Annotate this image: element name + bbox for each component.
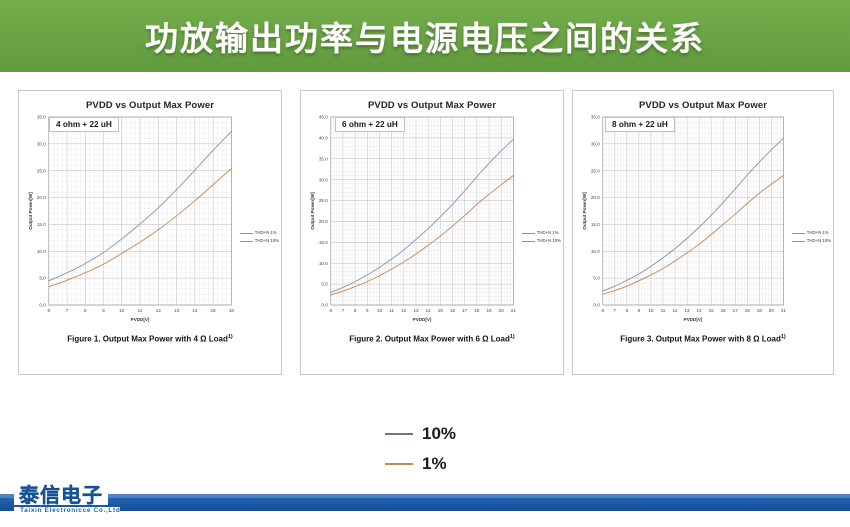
svg-text:PVDD[V]: PVDD[V] — [684, 317, 703, 322]
plot-area-2: 6 ohm + 22 uH THD+N 1% THD+N 10% 0.05.01… — [301, 111, 563, 333]
svg-text:9: 9 — [638, 308, 641, 313]
svg-text:14: 14 — [697, 308, 703, 313]
svg-text:12: 12 — [156, 308, 162, 313]
footer: 泰信电子 Taixin Electronicce Co.,Ltd — [0, 482, 850, 527]
svg-text:6: 6 — [48, 308, 51, 313]
svg-text:Output Power[W]: Output Power[W] — [310, 192, 315, 230]
svg-text:10.0: 10.0 — [319, 261, 328, 266]
svg-text:18: 18 — [474, 308, 480, 313]
legend-swatch-icon — [240, 241, 253, 242]
svg-text:14: 14 — [192, 308, 198, 313]
svg-text:12: 12 — [672, 308, 678, 313]
svg-text:Output Power[W]: Output Power[W] — [582, 192, 587, 230]
chart-card-2: PVDD vs Output Max Power 6 ohm + 22 uH T… — [300, 90, 564, 375]
svg-text:20: 20 — [769, 308, 775, 313]
caption-text: Figure 3. Output Max Power with 8 Ω Load — [620, 335, 781, 344]
charts-strip: PVDD vs Output Max Power 4 ohm + 22 uH T… — [0, 90, 850, 415]
chart-title-2: PVDD vs Output Max Power — [301, 91, 563, 111]
svg-text:40.0: 40.0 — [319, 135, 328, 140]
svg-text:15: 15 — [211, 308, 217, 313]
svg-text:10: 10 — [377, 308, 383, 313]
svg-text:12: 12 — [401, 308, 407, 313]
svg-text:7: 7 — [342, 308, 345, 313]
bottom-legend-label: 1% — [422, 454, 447, 474]
svg-text:35.0: 35.0 — [591, 115, 600, 120]
svg-text:8: 8 — [354, 308, 357, 313]
legend-label: THD+N 10% — [807, 237, 831, 245]
svg-text:30.0: 30.0 — [319, 177, 328, 182]
svg-text:18: 18 — [745, 308, 751, 313]
legend-swatch-icon — [522, 241, 535, 242]
chart-legend-3: THD+N 1% THD+N 10% — [792, 229, 831, 245]
logo-chinese-name: 泰信电子 — [14, 484, 108, 505]
legend-swatch-icon — [792, 241, 805, 242]
legend-swatch-icon — [792, 233, 805, 234]
svg-text:20: 20 — [499, 308, 505, 313]
company-logo: 泰信电子 Taixin Electronicce Co.,Ltd — [14, 484, 120, 514]
svg-text:6: 6 — [330, 308, 333, 313]
legend-item-thd10: THD+N 10% — [792, 237, 831, 245]
svg-text:PVDD[V]: PVDD[V] — [413, 317, 432, 322]
bottom-legend: 10% 1% — [0, 418, 850, 478]
svg-text:16: 16 — [721, 308, 727, 313]
svg-text:15.0: 15.0 — [319, 240, 328, 245]
svg-text:PVDD[V]: PVDD[V] — [131, 317, 150, 322]
svg-text:0.0: 0.0 — [39, 303, 46, 308]
footer-bar — [0, 494, 850, 511]
svg-text:15.0: 15.0 — [37, 222, 46, 227]
legend-item-thd1: THD+N 1% — [792, 229, 831, 237]
legend-item-thd1: THD+N 1% — [522, 229, 561, 237]
legend-swatch-icon — [240, 233, 253, 234]
svg-text:6: 6 — [602, 308, 605, 313]
svg-text:7: 7 — [614, 308, 617, 313]
chart-title-3: PVDD vs Output Max Power — [573, 91, 833, 111]
page-title: 功放输出功率与电源电压之间的关系 — [0, 0, 850, 72]
svg-text:5.0: 5.0 — [39, 276, 46, 281]
svg-text:17: 17 — [733, 308, 739, 313]
svg-text:0.0: 0.0 — [321, 303, 328, 308]
svg-text:35.0: 35.0 — [319, 156, 328, 161]
svg-text:16: 16 — [450, 308, 456, 313]
legend-label: THD+N 1% — [537, 229, 559, 237]
condition-box-2: 6 ohm + 22 uH — [335, 117, 405, 132]
svg-text:13: 13 — [413, 308, 419, 313]
svg-text:15: 15 — [709, 308, 715, 313]
bottom-legend-item-1: 1% — [385, 454, 447, 474]
chart-legend-2: THD+N 1% THD+N 10% — [522, 229, 561, 245]
caption-footnote: 1) — [228, 334, 233, 340]
svg-text:8: 8 — [626, 308, 629, 313]
header-band: 功放输出功率与电源电压之间的关系 — [0, 0, 850, 72]
svg-text:9: 9 — [366, 308, 369, 313]
plot-area-1: 4 ohm + 22 uH THD+N 1% THD+N 10% 0.05.01… — [19, 111, 281, 333]
line-swatch-icon — [385, 433, 413, 436]
plot-area-3: 8 ohm + 22 uH THD+N 1% THD+N 10% 0.05.01… — [573, 111, 833, 333]
svg-text:30.0: 30.0 — [37, 141, 46, 146]
legend-swatch-icon — [522, 233, 535, 234]
svg-text:5.0: 5.0 — [593, 276, 600, 281]
chart-card-1: PVDD vs Output Max Power 4 ohm + 22 uH T… — [18, 90, 282, 375]
legend-label: THD+N 1% — [255, 229, 277, 237]
svg-text:21: 21 — [511, 308, 517, 313]
legend-item-thd10: THD+N 10% — [522, 237, 561, 245]
svg-text:25.0: 25.0 — [319, 198, 328, 203]
legend-label: THD+N 10% — [255, 237, 279, 245]
svg-text:11: 11 — [661, 308, 666, 313]
figure-caption-3: Figure 3. Output Max Power with 8 Ω Load… — [573, 334, 833, 344]
svg-text:20.0: 20.0 — [319, 219, 328, 224]
svg-text:5.0: 5.0 — [321, 282, 328, 287]
figure-caption-2: Figure 2. Output Max Power with 6 Ω Load… — [301, 334, 563, 344]
caption-footnote: 1) — [510, 334, 515, 340]
svg-text:11: 11 — [138, 308, 143, 313]
svg-text:10.0: 10.0 — [37, 249, 46, 254]
figure-caption-1: Figure 1. Output Max Power with 4 Ω Load… — [19, 334, 281, 344]
caption-text: Figure 1. Output Max Power with 4 Ω Load — [67, 335, 228, 344]
svg-text:8: 8 — [84, 308, 87, 313]
svg-text:10: 10 — [648, 308, 654, 313]
chart-legend-1: THD+N 1% THD+N 10% — [240, 229, 279, 245]
bottom-legend-item-10: 10% — [385, 424, 456, 444]
svg-text:25.0: 25.0 — [37, 168, 46, 173]
legend-label: THD+N 1% — [807, 229, 829, 237]
svg-text:45.0: 45.0 — [319, 115, 328, 120]
plot-svg-3: 0.05.010.015.020.025.030.035.06789101112… — [573, 111, 833, 333]
svg-text:Output Power[W]: Output Power[W] — [28, 192, 33, 230]
svg-text:7: 7 — [66, 308, 69, 313]
plot-svg-2: 0.05.010.015.020.025.030.035.040.045.067… — [301, 111, 563, 333]
svg-text:13: 13 — [174, 308, 180, 313]
svg-text:11: 11 — [389, 308, 394, 313]
legend-label: THD+N 10% — [537, 237, 561, 245]
line-swatch-icon — [385, 463, 413, 466]
svg-text:20.0: 20.0 — [37, 195, 46, 200]
legend-item-thd1: THD+N 1% — [240, 229, 279, 237]
svg-text:25.0: 25.0 — [591, 168, 600, 173]
svg-text:17: 17 — [462, 308, 468, 313]
svg-text:9: 9 — [102, 308, 105, 313]
svg-text:19: 19 — [757, 308, 763, 313]
bottom-legend-label: 10% — [422, 424, 456, 444]
svg-text:15.0: 15.0 — [591, 222, 600, 227]
svg-text:10: 10 — [119, 308, 125, 313]
svg-text:13: 13 — [685, 308, 691, 313]
svg-text:10.0: 10.0 — [591, 249, 600, 254]
caption-text: Figure 2. Output Max Power with 6 Ω Load — [349, 335, 510, 344]
svg-text:0.0: 0.0 — [593, 303, 600, 308]
svg-text:20.0: 20.0 — [591, 195, 600, 200]
chart-card-3: PVDD vs Output Max Power 8 ohm + 22 uH T… — [572, 90, 834, 375]
svg-text:35.0: 35.0 — [37, 115, 46, 120]
legend-item-thd10: THD+N 10% — [240, 237, 279, 245]
svg-text:21: 21 — [781, 308, 787, 313]
svg-text:15: 15 — [438, 308, 444, 313]
svg-text:14: 14 — [426, 308, 432, 313]
chart-title-1: PVDD vs Output Max Power — [19, 91, 281, 111]
caption-footnote: 1) — [781, 334, 786, 340]
svg-text:16: 16 — [229, 308, 235, 313]
svg-text:30.0: 30.0 — [591, 141, 600, 146]
plot-svg-1: 0.05.010.015.020.025.030.035.06789101112… — [19, 111, 281, 333]
logo-english-name: Taixin Electronicce Co.,Ltd — [14, 507, 120, 514]
condition-box-1: 4 ohm + 22 uH — [49, 117, 119, 132]
svg-text:19: 19 — [486, 308, 492, 313]
condition-box-3: 8 ohm + 22 uH — [605, 117, 675, 132]
